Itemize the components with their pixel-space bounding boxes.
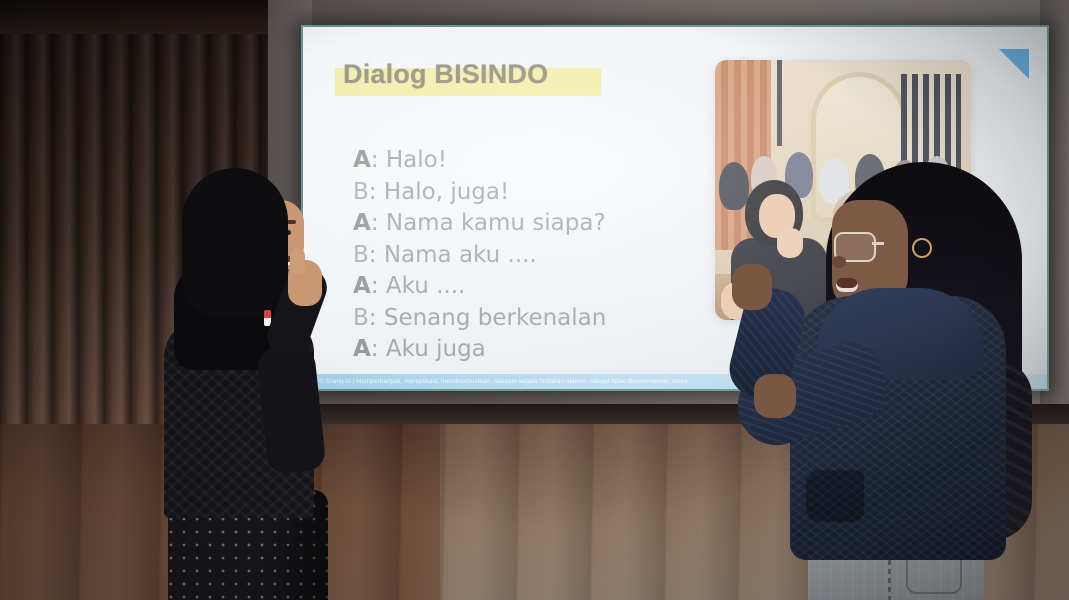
dialog-line: A: Aku .... — [353, 271, 606, 303]
dialog-colon: : — [371, 210, 386, 236]
dialog-line: A: Aku juga — [353, 334, 606, 366]
dialog-line: B: Nama aku .... — [353, 240, 606, 272]
presenter-right-jeans-pocket — [906, 558, 962, 594]
dialog-text: Senang berkenalan — [384, 305, 607, 331]
presenter-right-nose — [832, 256, 846, 268]
presenter-right-hoodie-pocket — [806, 470, 864, 522]
dialog-speaker: B — [353, 305, 369, 331]
dialog-text: Halo, juga! — [384, 179, 509, 205]
dialog-line: A: Nama kamu siapa? — [353, 208, 606, 240]
dialog-colon: : — [369, 179, 384, 205]
dialog-speaker: A — [353, 273, 371, 299]
presenter-left — [152, 168, 352, 600]
dialog-speaker: A — [353, 336, 371, 362]
dialog-colon: : — [371, 147, 386, 173]
dialog-text: Aku juga — [386, 336, 486, 362]
presenter-right-hand — [732, 264, 772, 310]
accent-triangle-icon — [999, 49, 1029, 79]
presenter-left-hijab — [182, 168, 288, 318]
dialog-text: Halo! — [386, 147, 447, 173]
dialog-colon: : — [371, 336, 386, 362]
presenter-right-hand — [754, 374, 796, 418]
dialog-speaker: B — [353, 242, 369, 268]
presenter-left-thumb — [290, 248, 305, 274]
presenter-left-upper-arm — [255, 341, 326, 474]
dialog-text: Aku .... — [386, 273, 465, 299]
presenter-right — [730, 160, 1050, 600]
slide-title: Dialog BISINDO — [343, 59, 548, 90]
dialog-line: B: Senang berkenalan — [353, 303, 606, 335]
slide-title-group: Dialog BISINDO — [343, 59, 548, 90]
photo-pole — [777, 60, 782, 146]
dialog-speaker: A — [353, 210, 371, 236]
dialog-colon: : — [369, 305, 384, 331]
dialog-text: Nama kamu siapa? — [386, 210, 606, 236]
dialog-speaker: A — [353, 147, 371, 173]
presenter-right-glasses-bridge — [872, 242, 884, 245]
dialog-line: A: Halo! — [353, 145, 606, 177]
dialog-speaker: B — [353, 179, 369, 205]
presenter-right-mouth — [836, 278, 858, 292]
footer-copyright-text: © Silang.id | Memperbanyak, mereplikasi,… — [303, 378, 688, 385]
presenter-right-earring — [912, 238, 932, 258]
dialog-line: B: Halo, juga! — [353, 177, 606, 209]
dialog-colon: : — [371, 273, 386, 299]
dialog-colon: : — [369, 242, 384, 268]
dialog-list: A: Halo! B: Halo, juga! A: Nama kamu sia… — [353, 145, 606, 366]
curtain-rail — [0, 0, 268, 34]
dialog-text: Nama aku .... — [384, 242, 537, 268]
presentation-scene: Dialog BISINDO A: Halo! B: Halo, juga! A… — [0, 0, 1069, 600]
